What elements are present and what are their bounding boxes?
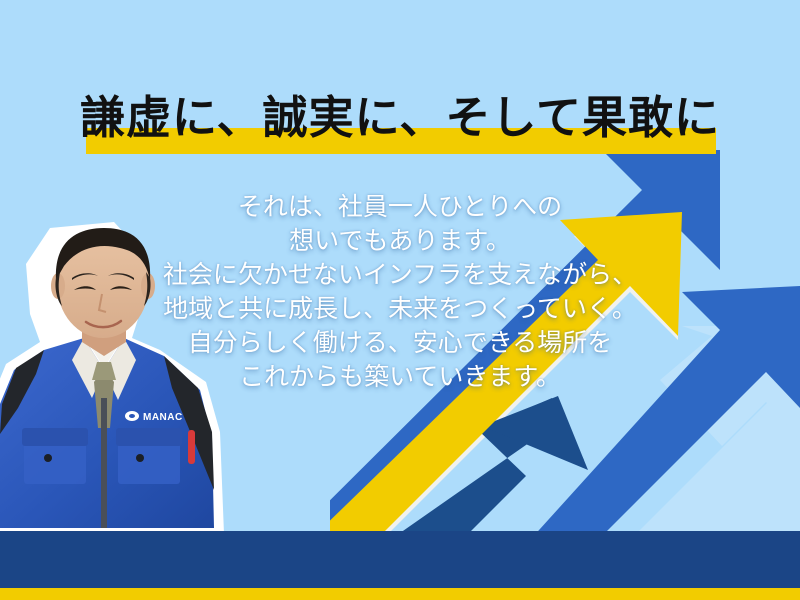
chest-pocket-right-flap (116, 428, 182, 446)
manac-logo-text: MANAC (143, 412, 183, 423)
employee-photo: MANAC (0, 222, 224, 534)
pocket-button-right (136, 454, 144, 462)
jacket-zipper (101, 398, 107, 528)
navy-arrow (390, 398, 584, 540)
pale-blue-arrow (630, 370, 800, 540)
headline-block: 謙虚に、誠実に、そして果敢に (0, 92, 800, 154)
chest-pocket-left-flap (22, 428, 88, 446)
page-title: 謙虚に、誠実に、そして果敢に (0, 92, 800, 144)
body-copy-line-1: それは、社員一人ひとりへの (80, 190, 720, 224)
footer-navy-bar (0, 531, 800, 588)
manac-logo-mark-inner (129, 414, 135, 418)
navy-arrow-head (482, 396, 588, 470)
footer-yellow-bar (0, 588, 800, 600)
jacket-red-accent (188, 430, 195, 464)
hero-banner: 謙虚に、誠実に、そして果敢に それは、社員一人ひとりへの 想いでもあります。 社… (0, 0, 800, 600)
pocket-button-left (44, 454, 52, 462)
